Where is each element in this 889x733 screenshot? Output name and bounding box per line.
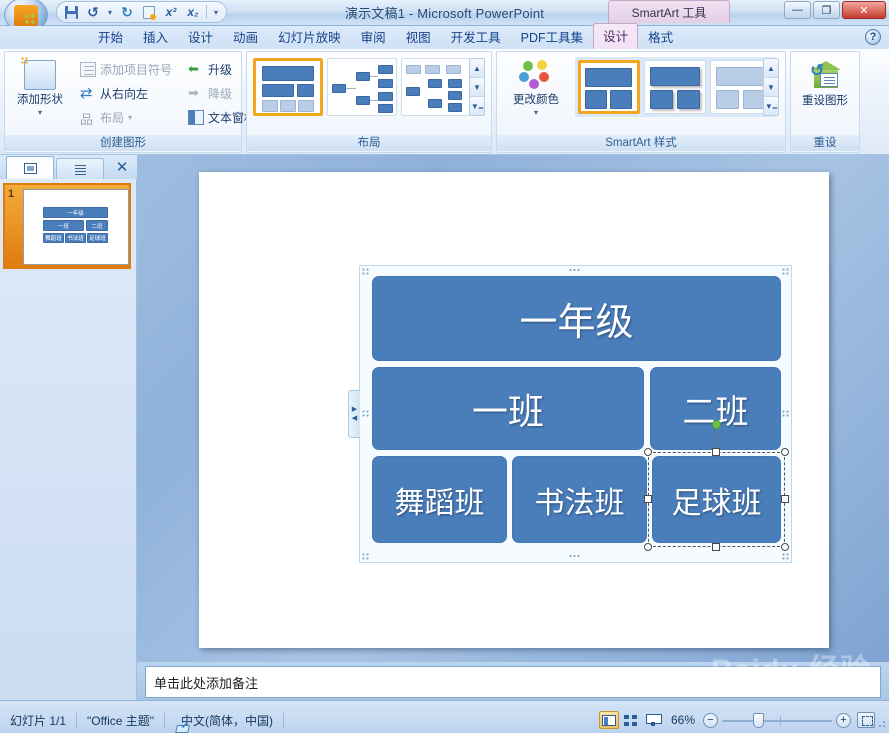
status-divider bbox=[283, 713, 284, 728]
tab-outline[interactable] bbox=[56, 158, 104, 179]
slide-thumbnail-preview: 一年级 一班 二班 舞蹈班 书法班 足球班 bbox=[23, 189, 129, 265]
tab-design[interactable]: 设计 bbox=[178, 24, 223, 49]
thumb-node-class1: 一班 bbox=[43, 220, 84, 231]
tab-view[interactable]: 视图 bbox=[396, 24, 441, 49]
tab-smartart-format[interactable]: 格式 bbox=[638, 24, 683, 49]
scroll-up-icon[interactable]: ▲ bbox=[470, 59, 484, 78]
smartart-node-class1[interactable]: 一班 bbox=[372, 367, 644, 450]
zoom-in-button[interactable]: + bbox=[836, 713, 851, 728]
ribbon-group-layouts: ▲ ▼ ▼‗ 布局 bbox=[246, 51, 492, 153]
outline-tab-icon bbox=[74, 164, 87, 175]
gallery-more-icon[interactable]: ▼‗ bbox=[470, 97, 484, 115]
notes-pane: 单击此处添加备注 bbox=[137, 662, 889, 700]
add-shape-label: 添加形状 bbox=[17, 94, 63, 107]
layout-thumbnail-2[interactable] bbox=[327, 58, 397, 116]
slide-surface[interactable]: ▶ ◀ 一年级 一班 二班 舞蹈班 书法班 足球班 bbox=[199, 172, 829, 648]
reset-graphic-button[interactable]: ↺ 重设图形 bbox=[794, 56, 856, 132]
promote-arrow-icon bbox=[188, 62, 204, 77]
group-label-smartart-styles: SmartArt 样式 bbox=[497, 135, 785, 151]
scroll-down-icon[interactable]: ▼ bbox=[470, 78, 484, 97]
title-bar: ↺ ▾ ↻ x² x₂ ▾ 演示文稿1 - Microsoft PowerPoi… bbox=[0, 0, 889, 26]
slides-tab-icon bbox=[24, 163, 37, 174]
frame-grip-right[interactable] bbox=[782, 410, 789, 417]
slide-canvas-area: ▶ ◀ 一年级 一班 二班 舞蹈班 书法班 足球班 bbox=[137, 155, 889, 662]
chevron-down-icon[interactable]: ▾ bbox=[534, 108, 538, 117]
color-palette-icon bbox=[519, 60, 553, 90]
smartart-style-gallery bbox=[575, 57, 775, 117]
smartart-node-dance[interactable]: 舞蹈班 bbox=[372, 456, 507, 543]
zoom-out-button[interactable]: − bbox=[703, 713, 718, 728]
close-button[interactable]: ✕ bbox=[842, 1, 886, 19]
resize-handle-top-left[interactable] bbox=[644, 448, 652, 456]
frame-grip-top-right[interactable] bbox=[782, 268, 789, 275]
thumb-node-football: 足球班 bbox=[87, 233, 108, 243]
chevron-left-icon: ◀ bbox=[352, 416, 357, 422]
promote-label: 升级 bbox=[208, 61, 232, 78]
normal-view-icon bbox=[602, 715, 616, 726]
layout-button[interactable]: 布局 ▾ bbox=[77, 105, 177, 129]
group-label-create-graphic: 创建图形 bbox=[5, 135, 241, 151]
view-buttons bbox=[599, 711, 663, 729]
layout-icon bbox=[80, 110, 96, 125]
status-bar: 幻灯片 1/1 "Office 主题" 中文(简体，中国) 66% − + bbox=[0, 700, 889, 733]
right-to-left-button[interactable]: 从右向左 bbox=[77, 81, 177, 105]
tab-animations[interactable]: 动画 bbox=[223, 24, 268, 49]
slide-number-label: 1 bbox=[8, 188, 14, 200]
tab-pdf-tools[interactable]: PDF工具集 bbox=[511, 24, 594, 49]
frame-grip-bottom[interactable] bbox=[569, 555, 582, 559]
add-bullet-button[interactable]: 添加项目符号 bbox=[77, 57, 177, 81]
resize-grip[interactable] bbox=[876, 720, 886, 730]
resize-handle-top[interactable] bbox=[712, 448, 720, 456]
maximize-button[interactable]: ❐ bbox=[813, 1, 840, 19]
reset-graphic-icon: ↺ bbox=[808, 61, 842, 91]
add-shape-button[interactable]: 添加形状 ▾ bbox=[9, 56, 71, 132]
ribbon-group-reset: ↺ 重设图形 重设 bbox=[790, 51, 860, 153]
theme-name: "Office 主题" bbox=[77, 712, 164, 729]
layout-gallery-scroll: ▲ ▼ ▼‗ bbox=[469, 58, 485, 116]
tab-slideshow[interactable]: 幻灯片放映 bbox=[268, 24, 351, 49]
style-thumbnail-2[interactable] bbox=[644, 60, 706, 114]
chevron-right-icon: ▶ bbox=[352, 407, 357, 413]
thumb-node-calligraphy: 书法班 bbox=[65, 233, 86, 243]
text-pane-icon bbox=[188, 110, 204, 125]
frame-grip-bottom-left[interactable] bbox=[362, 553, 369, 560]
tab-slides[interactable] bbox=[6, 156, 54, 179]
resize-handle-bottom-left[interactable] bbox=[644, 543, 652, 551]
resize-handle-left[interactable] bbox=[644, 495, 652, 503]
zoom-level-label: 66% bbox=[663, 713, 703, 727]
notes-placeholder[interactable]: 单击此处添加备注 bbox=[145, 666, 881, 698]
zoom-slider-tick bbox=[780, 716, 781, 725]
style-thumbnail-1[interactable] bbox=[578, 60, 640, 114]
right-to-left-label: 从右向左 bbox=[100, 85, 148, 102]
smartart-node-calligraphy[interactable]: 书法班 bbox=[512, 456, 647, 543]
ribbon-group-create-graphic: 添加形状 ▾ 添加项目符号 从右向左 布局 ▾ bbox=[4, 51, 242, 153]
chevron-down-icon[interactable]: ▾ bbox=[38, 108, 42, 117]
smartart-node-grade[interactable]: 一年级 bbox=[372, 276, 781, 361]
style-gallery-scroll: ▲ ▼ ▼‗ bbox=[763, 58, 779, 116]
resize-handle-bottom-right[interactable] bbox=[781, 543, 789, 551]
zoom-slider[interactable] bbox=[722, 713, 832, 728]
add-bullet-label: 添加项目符号 bbox=[100, 61, 172, 78]
layout-gallery bbox=[253, 58, 471, 116]
minimize-button[interactable]: — bbox=[784, 1, 811, 19]
slide-thumbnail-panel: ✕ 1 一年级 一班 二班 舞蹈班 书法班 足球班 bbox=[0, 155, 137, 700]
panel-tab-strip: ✕ bbox=[0, 155, 137, 179]
frame-grip-left[interactable] bbox=[362, 410, 369, 417]
status-divider bbox=[164, 713, 165, 728]
chevron-down-icon[interactable]: ▾ bbox=[128, 113, 132, 122]
create-graphic-middle-column: 添加项目符号 从右向左 布局 ▾ bbox=[77, 57, 177, 129]
slide-sorter-icon bbox=[624, 715, 637, 726]
node-selection-box bbox=[648, 452, 785, 547]
group-label-layouts: 布局 bbox=[247, 135, 491, 151]
thumb-node-grade: 一年级 bbox=[43, 207, 108, 218]
layout-thumbnail-1[interactable] bbox=[253, 58, 323, 116]
reset-graphic-label: 重设图形 bbox=[802, 95, 848, 108]
resize-handle-top-right[interactable] bbox=[781, 448, 789, 456]
tab-developer[interactable]: 开发工具 bbox=[441, 24, 511, 49]
smartart-graphic-frame[interactable]: ▶ ◀ 一年级 一班 二班 舞蹈班 书法班 足球班 bbox=[359, 265, 792, 563]
demote-arrow-icon bbox=[188, 86, 204, 101]
tab-smartart-design[interactable]: 设计 bbox=[593, 23, 638, 49]
change-colors-label: 更改颜色 bbox=[513, 94, 559, 107]
ribbon-group-smartart-styles: 更改颜色 ▾ bbox=[496, 51, 786, 153]
frame-grip-top[interactable] bbox=[569, 269, 582, 273]
demote-label: 降级 bbox=[208, 85, 232, 102]
slide-show-icon bbox=[646, 714, 660, 726]
contextual-tab-title: SmartArt 工具 bbox=[608, 0, 730, 23]
normal-view-button[interactable] bbox=[599, 711, 619, 729]
promote-button[interactable]: 升级 bbox=[185, 57, 241, 81]
window-title: 演示文稿1 - Microsoft PowerPoint bbox=[0, 3, 889, 22]
resize-handle-bottom[interactable] bbox=[712, 543, 720, 551]
tab-home[interactable]: 开始 bbox=[88, 24, 133, 49]
add-shape-icon bbox=[24, 60, 56, 90]
layout-thumbnail-3[interactable] bbox=[401, 58, 471, 116]
ribbon-tab-strip: 开始 插入 设计 动画 幻灯片放映 审阅 视图 开发工具 PDF工具集 设计 格… bbox=[0, 26, 889, 49]
window-controls: — ❐ ✕ bbox=[784, 1, 886, 19]
frame-grip-top-left[interactable] bbox=[362, 268, 369, 275]
group-label-reset: 重设 bbox=[791, 135, 859, 151]
thumb-node-class2: 二班 bbox=[86, 220, 108, 231]
ribbon-tabs: 开始 插入 设计 动画 幻灯片放映 审阅 视图 开发工具 PDF工具集 设计 格… bbox=[88, 26, 683, 49]
gallery-more-icon[interactable]: ▼‗ bbox=[764, 97, 778, 115]
create-graphic-right-column: 升级 降级 文本窗格 bbox=[185, 57, 241, 129]
tab-insert[interactable]: 插入 bbox=[133, 24, 178, 49]
rotation-handle[interactable] bbox=[712, 420, 721, 429]
right-to-left-icon bbox=[80, 86, 96, 101]
text-pane-button[interactable]: 文本窗格 bbox=[185, 105, 241, 129]
thumb-node-dance: 舞蹈班 bbox=[43, 233, 64, 243]
ribbon: 添加形状 ▾ 添加项目符号 从右向左 布局 ▾ bbox=[0, 49, 889, 155]
layout-label: 布局 bbox=[100, 109, 124, 126]
language-label[interactable]: 中文(简体，中国) bbox=[179, 712, 283, 729]
slide-show-view-button[interactable] bbox=[643, 711, 663, 729]
demote-button[interactable]: 降级 bbox=[185, 81, 241, 105]
frame-grip-bottom-right[interactable] bbox=[782, 553, 789, 560]
help-icon[interactable]: ? bbox=[865, 29, 881, 45]
close-panel-icon[interactable]: ✕ bbox=[113, 158, 131, 176]
fit-slide-to-window-icon[interactable] bbox=[857, 712, 875, 728]
change-colors-button[interactable]: 更改颜色 ▾ bbox=[501, 56, 571, 132]
slide-sorter-view-button[interactable] bbox=[621, 711, 641, 729]
slide-thumbnail-1[interactable]: 1 一年级 一班 二班 舞蹈班 书法班 足球班 bbox=[3, 183, 131, 269]
text-pane-toggle[interactable]: ▶ ◀ bbox=[348, 390, 360, 438]
zoom-slider-thumb[interactable] bbox=[753, 713, 764, 728]
slide-counter: 幻灯片 1/1 bbox=[0, 712, 76, 729]
tab-review[interactable]: 审阅 bbox=[351, 24, 396, 49]
bullet-icon bbox=[80, 62, 96, 77]
scroll-up-icon[interactable]: ▲ bbox=[764, 59, 778, 78]
resize-handle-right[interactable] bbox=[781, 495, 789, 503]
scroll-down-icon[interactable]: ▼ bbox=[764, 78, 778, 97]
